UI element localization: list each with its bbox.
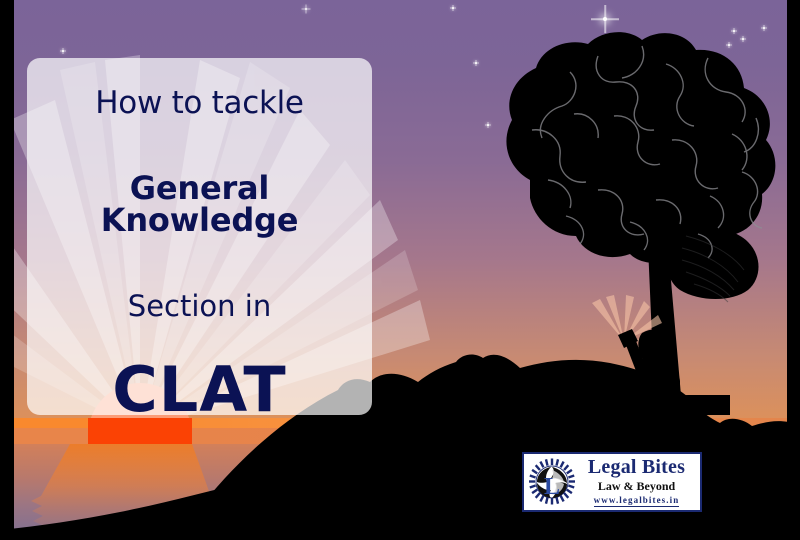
legal-bites-emblem: L: [527, 457, 577, 507]
logo-tagline: Law & Beyond: [598, 479, 675, 493]
poster-image: How to tackle General Knowledge Section …: [0, 0, 800, 540]
logo-url[interactable]: www.legalbites.in: [594, 495, 680, 507]
card-line-4: CLAT: [27, 359, 372, 421]
logo-title: Legal Bites: [588, 457, 685, 478]
right-black-bar: [787, 0, 795, 540]
card-line-1: How to tackle: [27, 88, 372, 119]
svg-text:L: L: [544, 474, 560, 500]
title-card: How to tackle General Knowledge Section …: [27, 58, 372, 415]
right-outer-edge: [795, 0, 800, 540]
card-line-3: Section in: [27, 292, 372, 321]
legal-bites-logo[interactable]: L Legal Bites Law & Beyond www.legalbite…: [522, 452, 702, 512]
seated-person-silhouette: [580, 295, 730, 415]
left-black-bar: [5, 0, 14, 540]
logo-text-block: Legal Bites Law & Beyond www.legalbites.…: [577, 457, 700, 507]
card-line-2: General Knowledge: [27, 172, 372, 236]
